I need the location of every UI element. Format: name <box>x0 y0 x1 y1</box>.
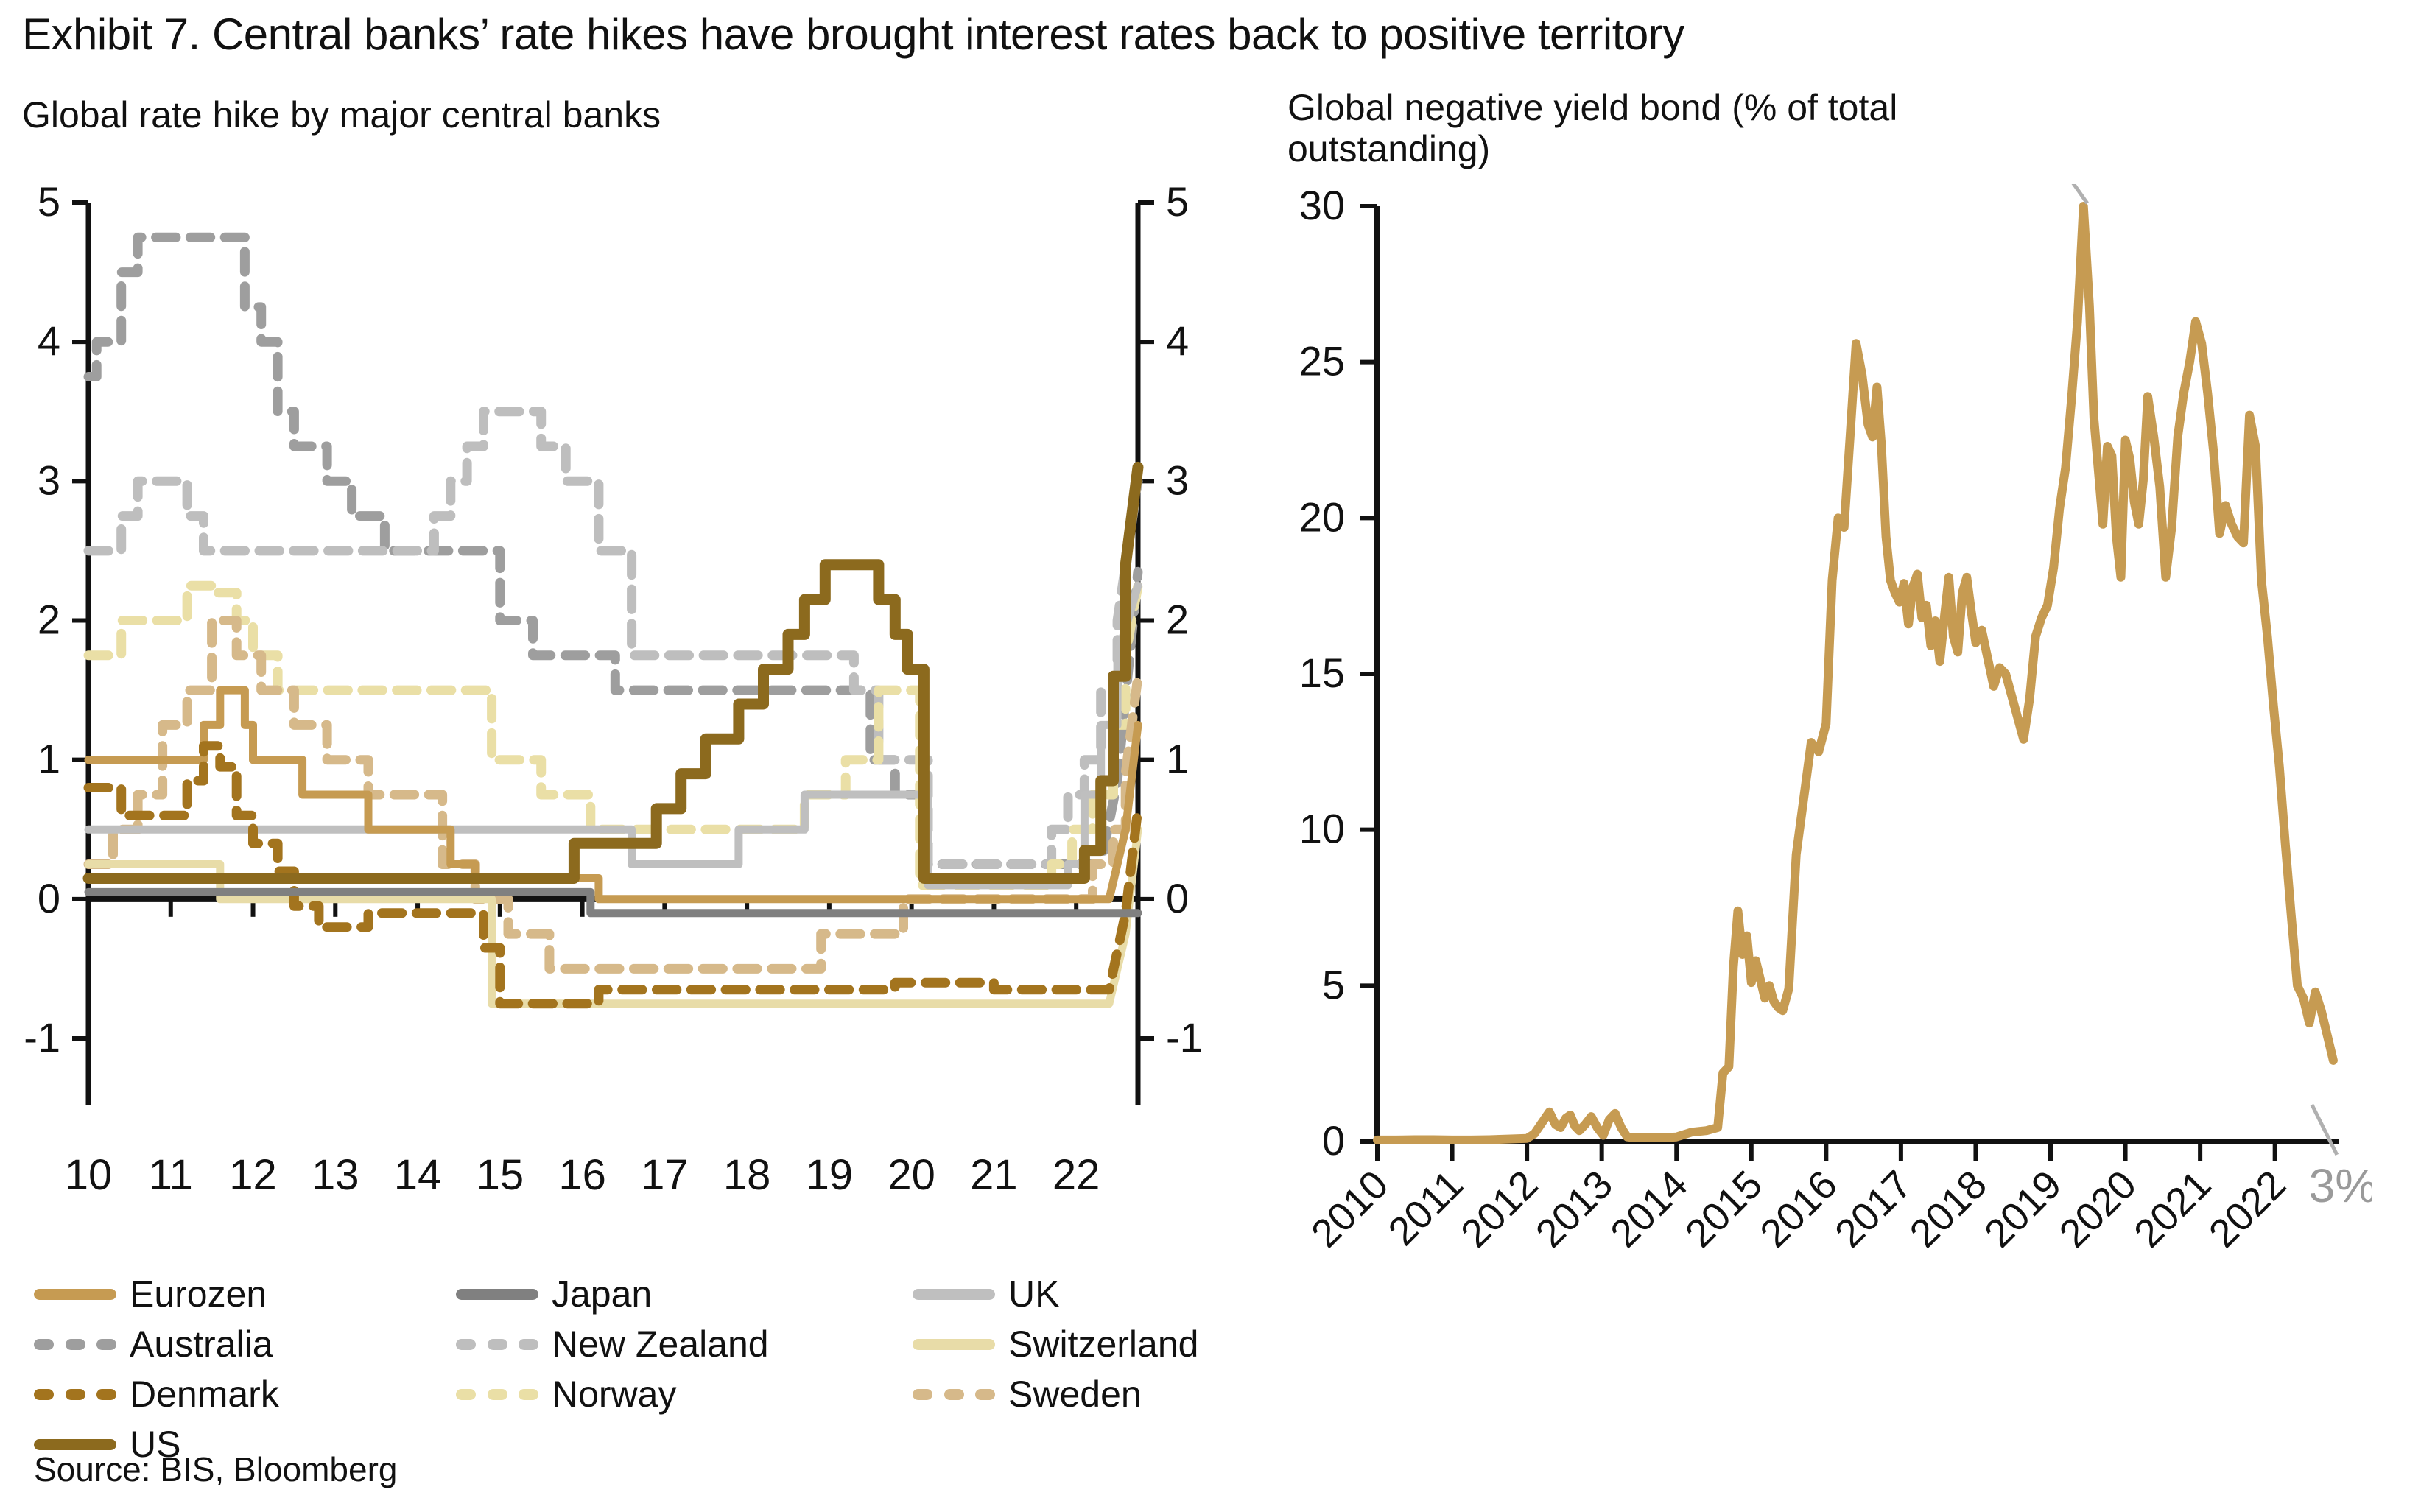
legend-swatch-uk <box>913 1289 995 1300</box>
right-panel-title: Global negative yield bond (% of total o… <box>1287 87 2068 169</box>
left-chart-y-tick-label: 5 <box>38 178 60 225</box>
legend-label: Sweden <box>1008 1376 1142 1413</box>
right-chart-annotation-latest: 3% <box>2309 1159 2372 1212</box>
right-chart-x-tick-label: 2017 <box>1827 1162 1920 1256</box>
left-chart-y-tick-label-right: 5 <box>1166 178 1189 225</box>
left-panel-title: Global rate hike by major central banks <box>22 94 661 136</box>
right-chart-x-tick-label: 2021 <box>2126 1162 2219 1256</box>
right-chart-x-tick-label: 2015 <box>1677 1162 1771 1256</box>
right-chart-x-tick-label: 2019 <box>1976 1162 2070 1256</box>
legend-label: Denmark <box>130 1376 279 1413</box>
left-chart-x-tick-label: 22 <box>1053 1151 1100 1199</box>
left-chart-y-tick-label-right: -1 <box>1166 1014 1203 1061</box>
right-chart-x-tick-label: 2011 <box>1380 1162 1472 1254</box>
right-chart-y-tick-label: 25 <box>1299 338 1345 384</box>
legend-swatch-japan <box>456 1289 538 1300</box>
right-chart-y-tick-label: 10 <box>1299 806 1345 852</box>
legend-item-uk[interactable]: UK <box>913 1273 1059 1315</box>
right-chart-x-tick-label: 2016 <box>1751 1162 1845 1256</box>
left-chart-x-tick-label: 17 <box>641 1151 689 1199</box>
right-chart-y-tick-label: 30 <box>1299 184 1345 228</box>
right-chart-y-tick-label: 15 <box>1299 650 1345 696</box>
left-chart-y-tick-label: 1 <box>38 736 60 782</box>
left-chart-x-tick-label: 18 <box>723 1151 771 1199</box>
right-chart-x-tick-label: 2010 <box>1303 1162 1396 1256</box>
legend: EurozenJapanUKAustraliaNew ZealandSwitze… <box>34 1273 1227 1471</box>
left-chart-y-tick-label-right: 2 <box>1166 597 1189 643</box>
left-chart-x-tick-label: 19 <box>806 1151 854 1199</box>
left-chart-x-tick-label: 13 <box>312 1151 359 1199</box>
legend-label: UK <box>1008 1276 1059 1312</box>
legend-label: Eurozen <box>130 1276 267 1312</box>
left-chart-y-tick-label-right: 0 <box>1166 875 1189 921</box>
left-chart-x-tick-label: 21 <box>970 1151 1018 1199</box>
legend-label: New Zealand <box>552 1326 769 1362</box>
legend-item-sweden[interactable]: Sweden <box>913 1373 1142 1416</box>
exhibit-title: Exhibit 7. Central banks’ rate hikes hav… <box>22 9 1684 60</box>
legend-item-australia[interactable]: Australia <box>34 1323 273 1365</box>
right-chart-y-tick-label: 0 <box>1322 1117 1345 1164</box>
global-negative-yield-bond-chart: 0510152025302010201120122013201420152016… <box>1267 184 2372 1333</box>
legend-swatch-new-zealand <box>456 1339 538 1350</box>
left-chart-x-tick-label: 20 <box>888 1151 935 1199</box>
left-chart-x-tick-label: 14 <box>394 1151 442 1199</box>
legend-swatch-us <box>34 1439 116 1450</box>
left-chart-y-tick-label-right: 1 <box>1166 736 1189 782</box>
left-chart-line-new-zealand <box>88 412 1138 865</box>
legend-item-norway[interactable]: Norway <box>456 1373 676 1416</box>
left-chart-y-tick-label: 4 <box>38 317 60 364</box>
right-chart-x-tick-label: 2012 <box>1452 1162 1546 1256</box>
legend-swatch-denmark <box>34 1389 116 1400</box>
global-rate-hike-chart: -1-1001122334455101112131415161718192021… <box>0 169 1252 1245</box>
legend-item-switzerland[interactable]: Switzerland <box>913 1323 1198 1365</box>
left-chart-y-tick-label: -1 <box>24 1014 60 1061</box>
legend-swatch-australia <box>34 1339 116 1350</box>
left-chart-y-tick-label-right: 4 <box>1166 317 1189 364</box>
source-note: Source: BIS, Bloomberg <box>34 1449 397 1489</box>
right-chart-x-tick-label: 2022 <box>2201 1162 2294 1256</box>
right-chart-line-negative-yield <box>1377 206 2333 1140</box>
right-chart-x-tick-label: 2018 <box>1902 1162 1995 1256</box>
right-chart-x-tick-label: 2013 <box>1528 1162 1621 1256</box>
left-chart-x-tick-label: 16 <box>558 1151 606 1199</box>
right-chart-x-tick-label: 2014 <box>1602 1162 1696 1256</box>
legend-label: Japan <box>552 1276 652 1312</box>
left-chart-x-tick-label: 15 <box>477 1151 524 1199</box>
legend-swatch-sweden <box>913 1389 995 1400</box>
legend-label: Switzerland <box>1008 1326 1198 1362</box>
legend-swatch-switzerland <box>913 1339 995 1350</box>
legend-item-eurozen[interactable]: Eurozen <box>34 1273 267 1315</box>
legend-item-japan[interactable]: Japan <box>456 1273 652 1315</box>
right-chart-x-tick-label: 2020 <box>2051 1162 2145 1256</box>
legend-swatch-eurozen <box>34 1289 116 1300</box>
left-chart-x-tick-label: 11 <box>149 1151 193 1199</box>
legend-item-denmark[interactable]: Denmark <box>34 1373 279 1416</box>
legend-label: Norway <box>552 1376 676 1413</box>
left-chart-y-tick-label-right: 3 <box>1166 457 1189 503</box>
left-chart-y-tick-label: 0 <box>38 875 60 921</box>
legend-item-new-zealand[interactable]: New Zealand <box>456 1323 769 1365</box>
right-chart-y-tick-label: 5 <box>1322 961 1345 1008</box>
right-chart-y-tick-label: 20 <box>1299 493 1345 540</box>
left-chart-x-tick-label: 12 <box>229 1151 277 1199</box>
left-chart-y-tick-label: 3 <box>38 457 60 503</box>
left-chart-x-tick-label: 10 <box>65 1151 113 1199</box>
left-chart-y-tick-label: 2 <box>38 597 60 643</box>
legend-label: Australia <box>130 1326 273 1362</box>
legend-swatch-norway <box>456 1389 538 1400</box>
